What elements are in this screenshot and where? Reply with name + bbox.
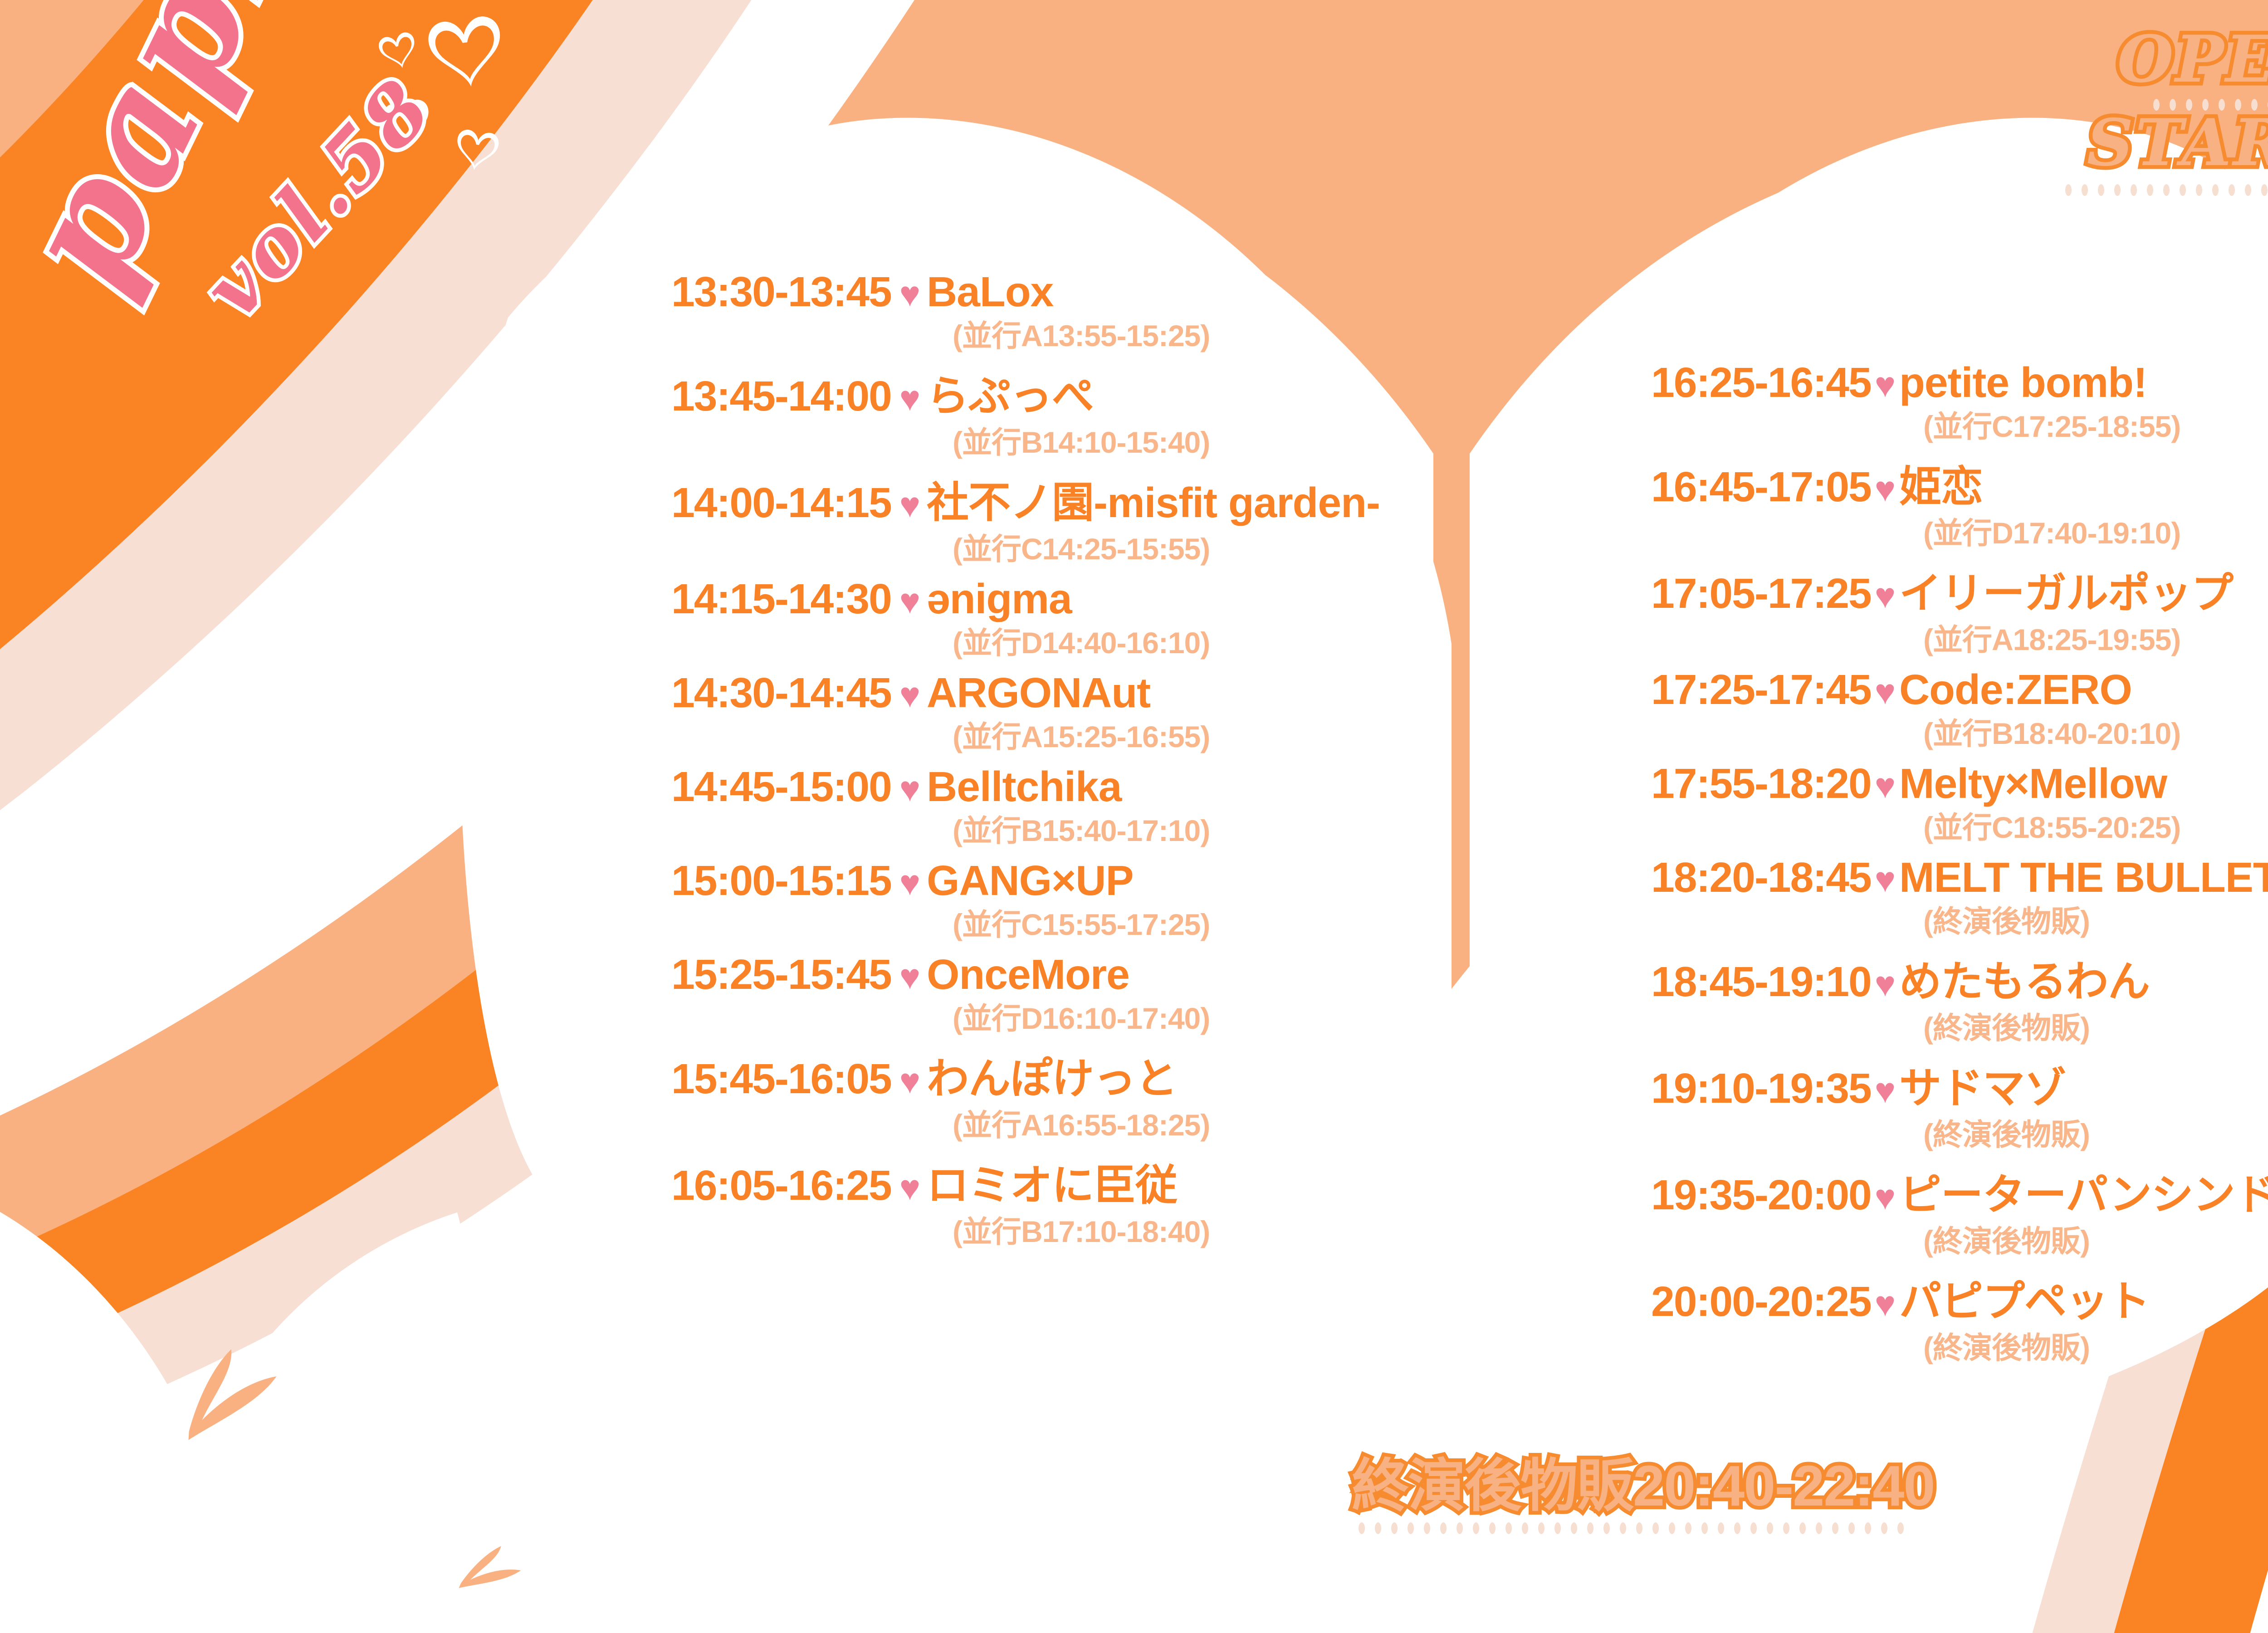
slot-time: 20:00-20:25 [1651, 1277, 1871, 1326]
artist-name: BaLox [927, 268, 1053, 316]
heart-icon: ♥ [899, 677, 920, 713]
artist-name: Melty×Mellow [1899, 759, 2167, 808]
slot-time: 19:10-19:35 [1651, 1064, 1871, 1113]
slot-time: 13:30-13:45 [671, 268, 891, 316]
schedule-row: 18:20-18:45♥MELT THE BULLET(終演後物販) [1651, 853, 2268, 941]
schedule-row-main: 19:10-19:35♥サドマゾ [1651, 1054, 2268, 1115]
slot-time: 14:45-15:00 [671, 763, 891, 811]
slot-time: 16:05-16:25 [671, 1161, 891, 1210]
slot-time: 17:05-17:25 [1651, 569, 1871, 618]
heart-icon: ♥ [899, 1170, 920, 1205]
schedule-row: 14:45-15:00♥Belltchika(並行B15:40-17:10) [671, 763, 1624, 850]
artist-name: らぷっぺ [927, 362, 1094, 423]
goods-footer: 終演後物販20:40-22:40 [1352, 1456, 2268, 1534]
heart-icon: ♥ [899, 1063, 920, 1099]
heart-icon: ♥ [899, 276, 920, 312]
slot-note: (並行C14:25-15:55) [671, 525, 1624, 568]
heart-icon: ♥ [899, 583, 920, 619]
artist-name: ピーターパンシンドローム [1899, 1160, 2268, 1222]
schedule-row: 20:00-20:25♥パピプペット(終演後物販) [1651, 1267, 2268, 1367]
dotted-divider [2060, 184, 2268, 196]
schedule-row-main: 19:35-20:00♥ピーターパンシンドローム [1651, 1160, 2268, 1222]
slot-time: 14:30-14:45 [671, 669, 891, 717]
heart-icon: ♥ [1875, 966, 1896, 1002]
schedule-row: 15:25-15:45♥OnceMore(並行D16:10-17:40) [671, 950, 1624, 1038]
artist-name: Code:ZERO [1899, 665, 2132, 714]
artist-name: ənigma [927, 575, 1072, 623]
slot-note: (並行C15:55-17:25) [671, 900, 1624, 944]
slot-note: (並行A18:25-19:55) [1651, 616, 2268, 659]
open-start-header: OPEN13:00 START13:30 [1706, 27, 2268, 196]
schedule-row-main: 14:15-14:30♥ənigma [671, 575, 1624, 623]
schedule-row: 17:25-17:45♥Code:ZERO(並行B18:40-20:10) [1651, 665, 2268, 753]
slot-time: 15:45-16:05 [671, 1055, 891, 1103]
artist-name: イリーガルポップ [1899, 559, 2233, 620]
schedule-row: 13:45-14:00♥らぷっぺ(並行B14:10-15:40) [671, 362, 1624, 462]
artist-name: めたもるわん [1899, 947, 2150, 1008]
open-time-label: OPEN13:00 [2117, 27, 2268, 92]
artist-name: 社不ノ園-misfit garden- [927, 468, 1380, 529]
schedule-row-main: 13:30-13:45♥BaLox [671, 268, 1624, 316]
artist-name: 姫恋 [1899, 452, 1983, 513]
slot-time: 18:20-18:45 [1651, 853, 1871, 902]
artist-name: Belltchika [927, 763, 1121, 811]
schedule-row-main: 16:05-16:25♥ロミオに臣従 [671, 1151, 1624, 1212]
schedule-row-main: 13:45-14:00♥らぷっぺ [671, 362, 1624, 423]
artist-name: ロミオに臣従 [927, 1151, 1177, 1212]
slot-time: 16:45-17:05 [1651, 463, 1871, 511]
slot-note: (終演後物販) [1651, 1217, 2268, 1261]
schedule-row-main: 16:45-17:05♥姫恋 [1651, 452, 2268, 513]
slot-note: (並行A13:55-15:25) [671, 312, 1624, 355]
slot-note: (終演後物販) [1651, 897, 2268, 941]
heart-icon: ♥ [1875, 367, 1896, 402]
slot-note: (並行B14:10-15:40) [671, 418, 1624, 462]
heart-icon: ♥ [899, 865, 920, 900]
heart-icon: ♥ [899, 381, 920, 416]
schedule-row-main: 14:30-14:45♥ARGONAut [671, 669, 1624, 717]
schedule-row-main: 17:05-17:25♥イリーガルポップ [1651, 559, 2268, 620]
schedule-row-main: 17:25-17:45♥Code:ZERO [1651, 665, 2268, 714]
start-time-line: START13:30 [1706, 111, 2268, 196]
slot-time: 17:55-18:20 [1651, 759, 1871, 808]
schedule-column-right: 16:25-16:45♥petite bomb!(並行C17:25-18:55)… [1651, 358, 2268, 1374]
slot-note: (並行A16:55-18:25) [671, 1101, 1624, 1144]
slot-time: 13:45-14:00 [671, 372, 891, 420]
slot-note: (並行D17:40-19:10) [1651, 509, 2268, 552]
schedule-row: 17:05-17:25♥イリーガルポップ(並行A18:25-19:55) [1651, 559, 2268, 659]
artist-name: わんぽけっと [927, 1044, 1177, 1105]
slot-time: 19:35-20:00 [1651, 1171, 1871, 1219]
schedule-row: 14:30-14:45♥ARGONAut(並行A15:25-16:55) [671, 669, 1624, 756]
slot-note: (並行B18:40-20:10) [1651, 709, 2268, 753]
heart-icon: ♥ [1875, 862, 1896, 897]
schedule-row-main: 18:20-18:45♥MELT THE BULLET [1651, 853, 2268, 902]
schedule-row: 13:30-13:45♥BaLox(並行A13:55-15:25) [671, 268, 1624, 355]
schedule-row-main: 20:00-20:25♥パピプペット [1651, 1267, 2268, 1328]
slot-note: (並行D16:10-17:40) [671, 994, 1624, 1038]
open-time-line: OPEN13:00 [1706, 27, 2268, 111]
schedule-row: 17:55-18:20♥Melty×Mellow(並行C18:55-20:25) [1651, 759, 2268, 847]
schedule-row: 15:00-15:15♥GANG×UP(並行C15:55-17:25) [671, 856, 1624, 944]
slot-note: (終演後物販) [1651, 1004, 2268, 1047]
slot-time: 18:45-19:10 [1651, 958, 1871, 1006]
schedule-column-left: 13:30-13:45♥BaLox(並行A13:55-15:25)13:45-1… [671, 268, 1624, 1257]
artist-name: GANG×UP [927, 856, 1134, 905]
heart-icon: ♥ [1875, 1179, 1896, 1215]
schedule-row-main: 14:00-14:15♥社不ノ園-misfit garden- [671, 468, 1624, 529]
artist-name: MELT THE BULLET [1899, 853, 2268, 902]
artist-name: OnceMore [927, 950, 1129, 999]
slot-note: (並行A15:25-16:55) [671, 713, 1624, 756]
heart-icon: ♥ [1875, 1286, 1896, 1321]
schedule-row: 16:45-17:05♥姫恋(並行D17:40-19:10) [1651, 452, 2268, 552]
schedule-row-main: 18:45-19:10♥めたもるわん [1651, 947, 2268, 1008]
artist-name: petite bomb! [1899, 358, 2147, 407]
schedule-row: 14:15-14:30♥ənigma(並行D14:40-16:10) [671, 575, 1624, 662]
schedule-row: 19:10-19:35♥サドマゾ(終演後物販) [1651, 1054, 2268, 1154]
slot-time: 15:25-15:45 [671, 950, 891, 999]
schedule-row: 16:05-16:25♥ロミオに臣従(並行B17:10-18:40) [671, 1151, 1624, 1251]
slot-time: 16:25-16:45 [1651, 358, 1871, 407]
schedule-row-main: 15:25-15:45♥OnceMore [671, 950, 1624, 999]
slot-time: 14:15-14:30 [671, 575, 891, 623]
schedule-row: 14:00-14:15♥社不ノ園-misfit garden-(並行C14:25… [671, 468, 1624, 568]
slot-note: (並行D14:40-16:10) [671, 619, 1624, 662]
artist-name: パピプペット [1899, 1267, 2150, 1328]
schedule-row-main: 14:45-15:00♥Belltchika [671, 763, 1624, 811]
heart-icon: ♥ [899, 959, 920, 994]
slot-time: 17:25-17:45 [1651, 665, 1871, 714]
heart-icon: ♥ [1875, 471, 1896, 507]
slot-note: (終演後物販) [1651, 1110, 2268, 1154]
schedule-row: 18:45-19:10♥めたもるわん(終演後物販) [1651, 947, 2268, 1047]
slot-time: 15:00-15:15 [671, 856, 891, 905]
schedule-row-main: 15:45-16:05♥わんぽけっと [671, 1044, 1624, 1105]
slot-note: (並行B15:40-17:10) [671, 807, 1624, 850]
artist-name: サドマゾ [1899, 1054, 2066, 1115]
heart-icon: ♥ [1875, 768, 1896, 803]
heart-icon: ♥ [899, 487, 920, 523]
schedule-row-main: 17:55-18:20♥Melty×Mellow [1651, 759, 2268, 808]
schedule-row-main: 15:00-15:15♥GANG×UP [671, 856, 1624, 905]
slot-note: (並行B17:10-18:40) [671, 1208, 1624, 1251]
artist-name: ARGONAut [927, 669, 1150, 717]
schedule-row: 19:35-20:00♥ピーターパンシンドローム(終演後物販) [1651, 1160, 2268, 1261]
dotted-divider [1354, 1522, 1911, 1534]
start-time-label: START13:30 [2087, 111, 2268, 175]
heart-icon: ♥ [1875, 578, 1896, 613]
flyer-canvas: papillon vol.58 OPEN13:00 START13:30 13:… [0, 0, 2268, 1633]
goods-sale-label: 終演後物販20:40-22:40 [1352, 1456, 1934, 1516]
heart-icon: ♥ [1875, 674, 1896, 709]
slot-note: (並行C18:55-20:25) [1651, 803, 2268, 847]
slot-time: 14:00-14:15 [671, 479, 891, 527]
heart-icon: ♥ [899, 771, 920, 807]
heart-icon: ♥ [1875, 1073, 1896, 1108]
slot-note: (終演後物販) [1651, 1324, 2268, 1367]
slot-note: (並行C17:25-18:55) [1651, 402, 2268, 446]
schedule-row-main: 16:25-16:45♥petite bomb! [1651, 358, 2268, 407]
schedule-row: 16:25-16:45♥petite bomb!(並行C17:25-18:55) [1651, 358, 2268, 446]
schedule-row: 15:45-16:05♥わんぽけっと(並行A16:55-18:25) [671, 1044, 1624, 1144]
